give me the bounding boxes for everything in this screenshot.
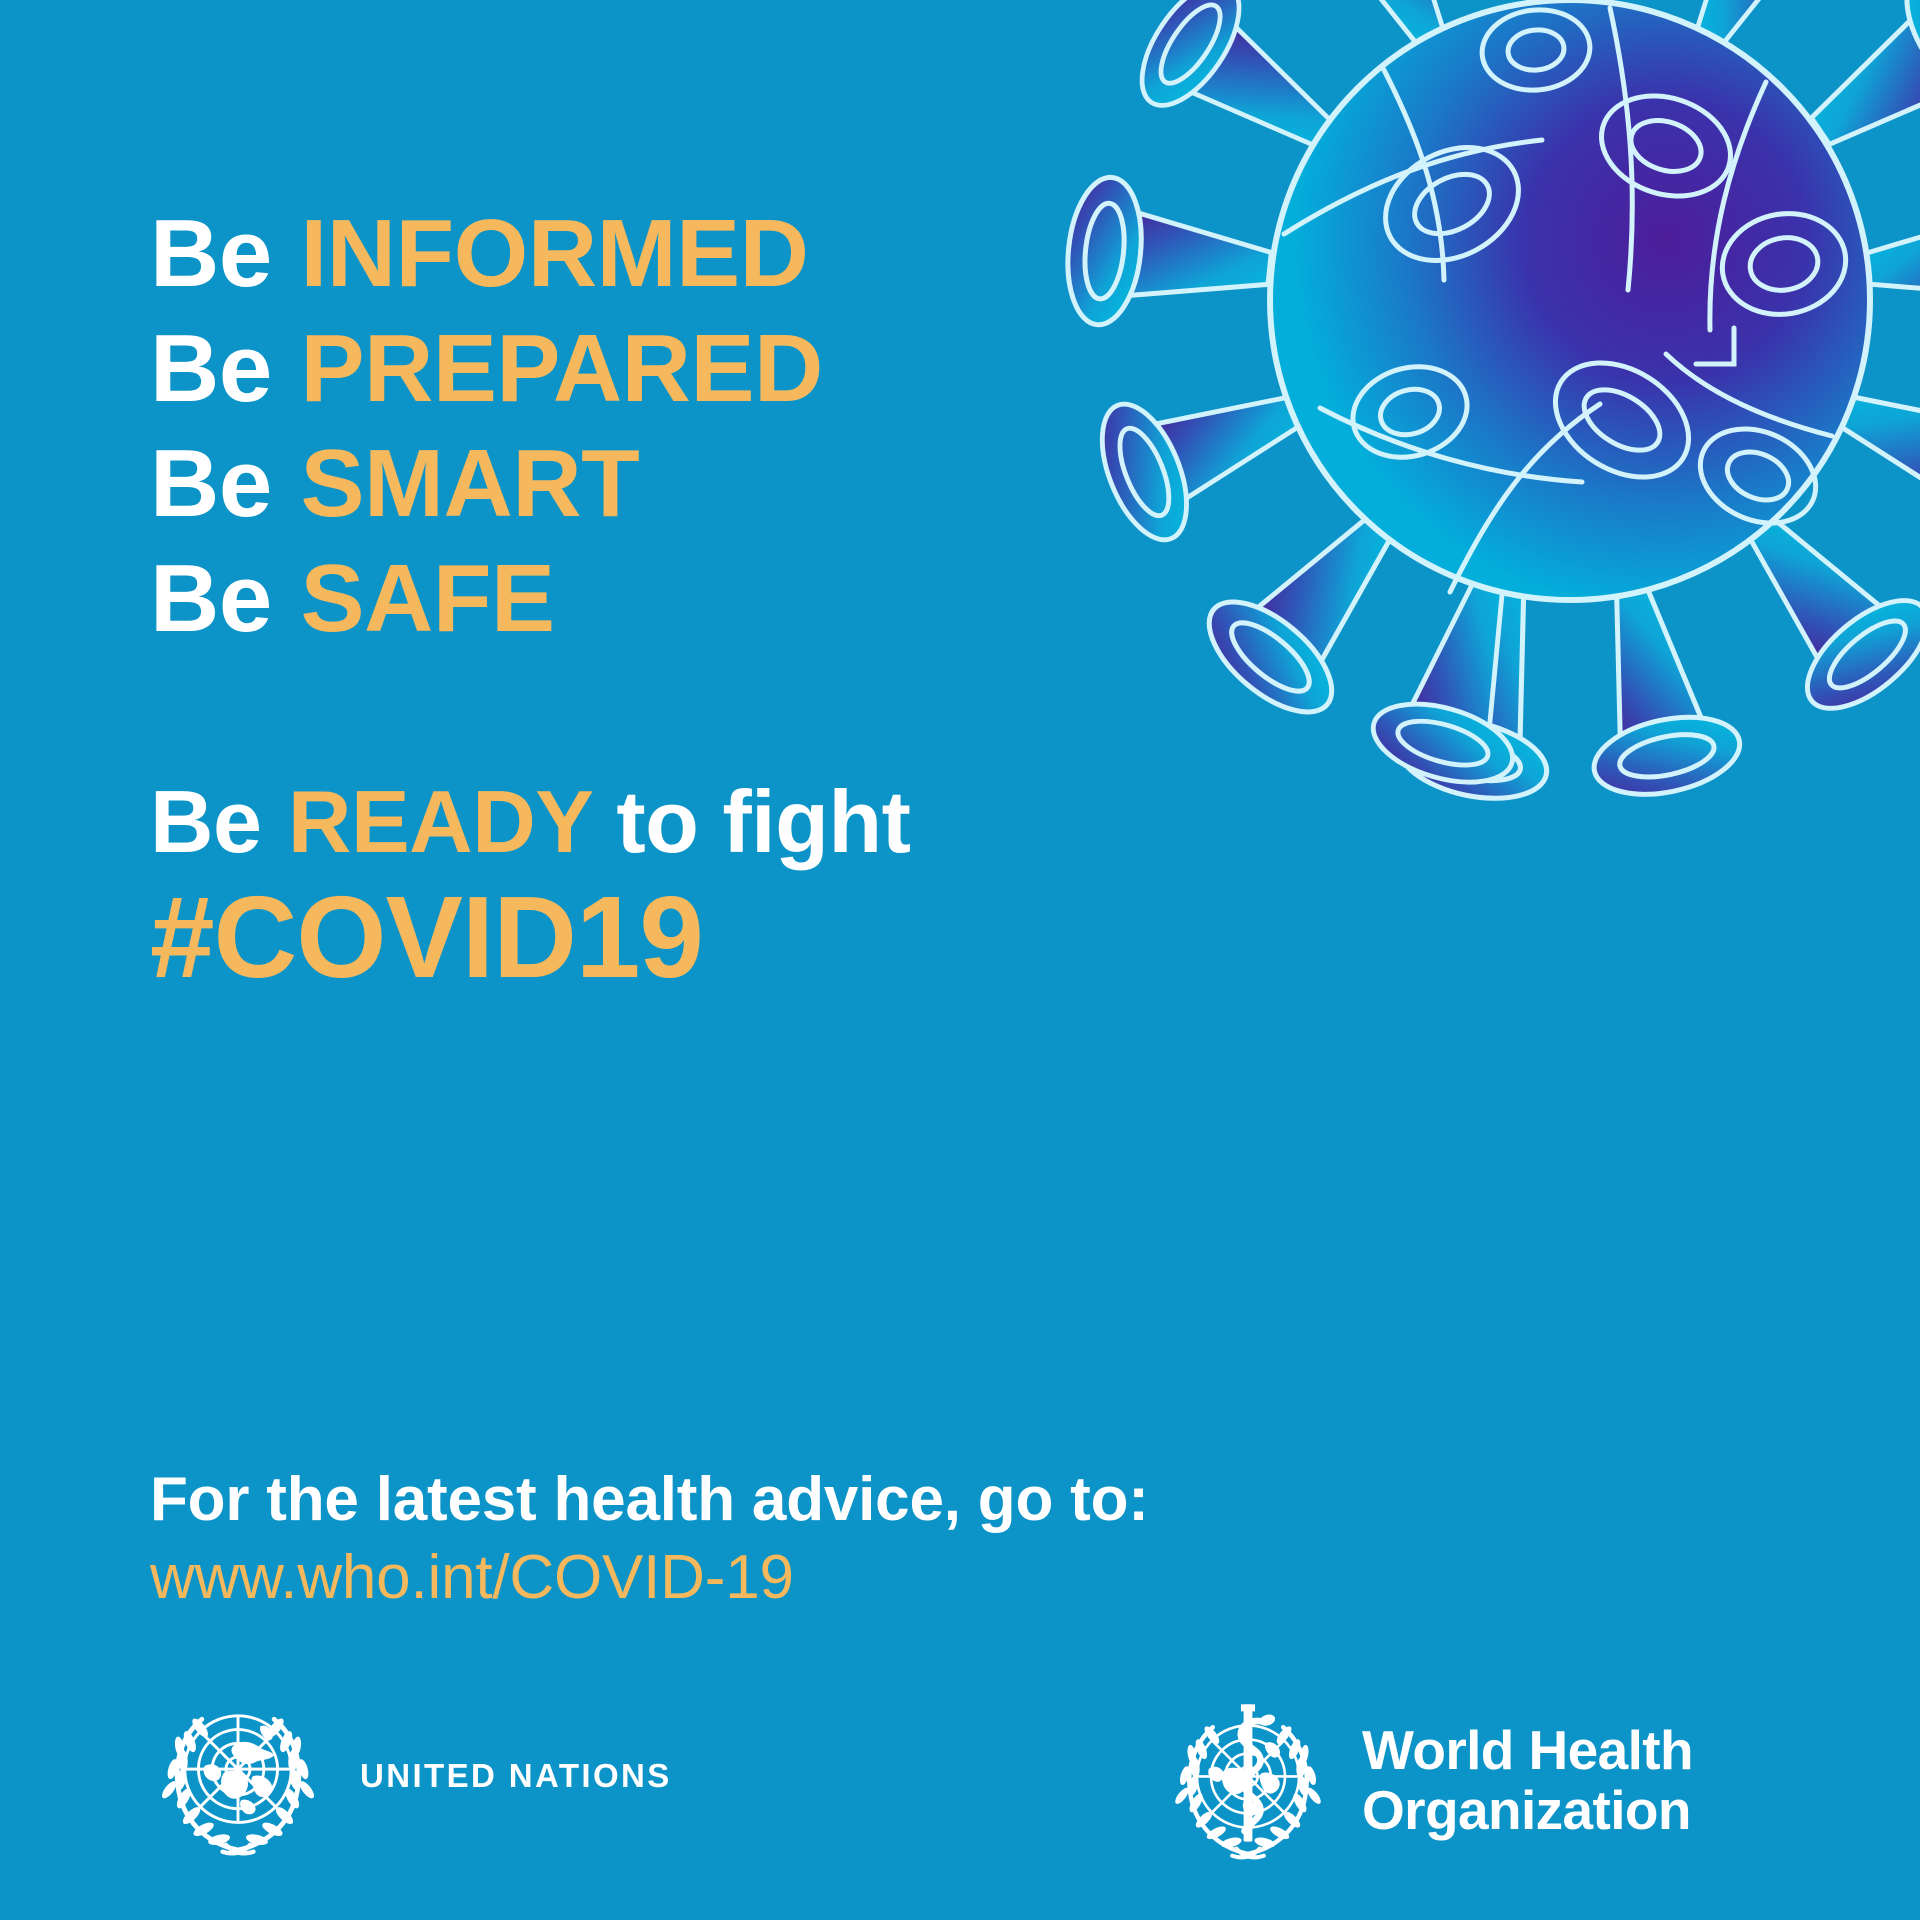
health-advice-text: For the latest health advice, go to:: [150, 1462, 1350, 1538]
headline-stack: BeINFORMED BePREPARED BeSMART BeSAFE: [150, 196, 1150, 656]
headline-line-smart: BeSMART: [150, 426, 1150, 541]
covid19-hashtag: #COVID19: [150, 874, 1250, 1000]
who-covid19-poster: BeINFORMED BePREPARED BeSMART BeSAFE BeR…: [0, 0, 1920, 1920]
united-nations-wordmark: UNITED NATIONS: [360, 1757, 672, 1795]
headline-line-prepared: BePREPARED: [150, 311, 1150, 426]
headline-line-safe: BeSAFE: [150, 541, 1150, 656]
united-nations-logo: UNITED NATIONS: [152, 1690, 672, 1862]
ready-line: BeREADYto fight: [150, 770, 1250, 874]
headline-keyword-smart: SMART: [301, 430, 640, 537]
who-wordmark-line2: Organization: [1362, 1780, 1693, 1840]
health-advice-block: For the latest health advice, go to: www…: [150, 1462, 1350, 1618]
call-to-action-block: BeREADYto fight #COVID19: [150, 770, 1250, 1000]
ready-suffix: to fight: [616, 772, 910, 871]
headline-line-informed: BeINFORMED: [150, 196, 1150, 311]
headline-keyword-informed: INFORMED: [301, 200, 809, 307]
world-health-organization-logo: World Health Organization: [1160, 1692, 1693, 1868]
united-nations-emblem-icon: [152, 1690, 324, 1862]
headline-prefix: Be: [150, 545, 272, 652]
who-website-url[interactable]: www.who.int/COVID-19: [150, 1538, 1350, 1618]
who-wordmark-line1: World Health: [1362, 1720, 1693, 1780]
world-health-organization-emblem-icon: [1160, 1692, 1336, 1868]
headline-prefix: Be: [150, 430, 272, 537]
headline-keyword-safe: SAFE: [301, 545, 555, 652]
ready-keyword: READY: [288, 772, 594, 871]
headline-keyword-prepared: PREPARED: [301, 315, 823, 422]
world-health-organization-wordmark: World Health Organization: [1362, 1720, 1693, 1840]
headline-prefix: Be: [150, 315, 272, 422]
headline-prefix: Be: [150, 200, 272, 307]
ready-prefix: Be: [150, 772, 262, 871]
